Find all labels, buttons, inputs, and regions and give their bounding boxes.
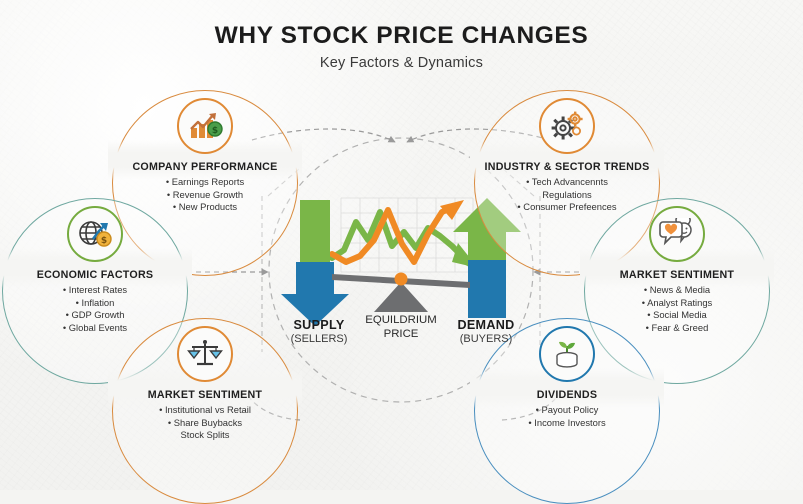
speech-bubbles-heart-icon [649, 206, 705, 262]
node-title: COMPANY PERFORMANCE [132, 161, 277, 173]
list-item: Analyst Ratings [642, 297, 713, 310]
demand-label: DEMAND [428, 318, 544, 332]
bar-chart-growth-dollar-icon: $ [177, 98, 233, 154]
infographic-canvas: WHY STOCK PRICE CHANGES Key Factors & Dy… [0, 0, 803, 490]
node-market-sentiment-bottom[interactable]: MARKET SENTIMENT Institutional vs Retail… [112, 318, 298, 504]
node-title: DIVIDENDS [537, 389, 597, 401]
globe-growth-dollar-icon: $ [67, 206, 123, 262]
node-dividends[interactable]: DIVIDENDS Payout Policy Income Investors [474, 318, 660, 504]
list-item: Institutional vs Retail [159, 404, 251, 417]
supply-blue-down-arrow [281, 262, 349, 326]
list-item: Social Media [642, 309, 713, 322]
list-item: Fear & Greed [642, 322, 713, 335]
node-bullet-list: Tech Advancennts Regulations Consumer Pr… [517, 176, 616, 214]
svg-text:$: $ [101, 236, 107, 246]
balance-scales-icon [177, 326, 233, 382]
list-item: Payout Policy [528, 404, 605, 417]
list-item: Tech Advancennts [517, 176, 616, 189]
supply-green-bar [300, 200, 330, 262]
demand-sublabel: (BUYERS) [428, 333, 544, 345]
list-item: Consumer Prefeences [517, 201, 616, 214]
list-item: New Products [166, 201, 244, 214]
list-item: Interest Rates [63, 284, 127, 297]
node-bullet-list: News & Media Analyst Ratings Social Medi… [642, 284, 713, 334]
node-bullet-list: Interest Rates Inflation GDP Growth Glob… [63, 284, 127, 334]
supply-indicator [281, 200, 349, 326]
list-item: Share Buybacks [159, 417, 251, 430]
list-item: Revenue Growth [166, 189, 244, 202]
node-title: MARKET SENTIMENT [148, 389, 262, 401]
list-item: Income Investors [528, 417, 605, 430]
scale-pivot-dot [395, 273, 408, 286]
list-item: GDP Growth [63, 309, 127, 322]
demand-label-group: DEMAND (BUYERS) [428, 318, 544, 345]
list-item: Inflation [63, 297, 127, 310]
node-bullet-list: Payout Policy Income Investors [528, 404, 605, 429]
svg-text:$: $ [212, 126, 218, 136]
gears-icon [539, 98, 595, 154]
node-bullet-list: Earnings Reports Revenue Growth New Prod… [166, 176, 244, 214]
node-title: INDUSTRY & SECTOR TRENDS [485, 161, 650, 173]
plant-coins-icon [539, 326, 595, 382]
list-item: Regulations [517, 189, 616, 202]
list-item: Stock Splits [159, 429, 251, 442]
scale-fulcrum [374, 282, 428, 312]
list-item: News & Media [642, 284, 713, 297]
balance-scale [332, 273, 470, 313]
node-title: ECONOMIC FACTORS [37, 269, 154, 281]
node-title: MARKET SENTIMENT [620, 269, 734, 281]
list-item: Global Events [63, 322, 127, 335]
node-bullet-list: Institutional vs Retail Share Buybacks S… [159, 404, 251, 442]
list-item: Earnings Reports [166, 176, 244, 189]
demand-blue-bar [468, 260, 506, 318]
